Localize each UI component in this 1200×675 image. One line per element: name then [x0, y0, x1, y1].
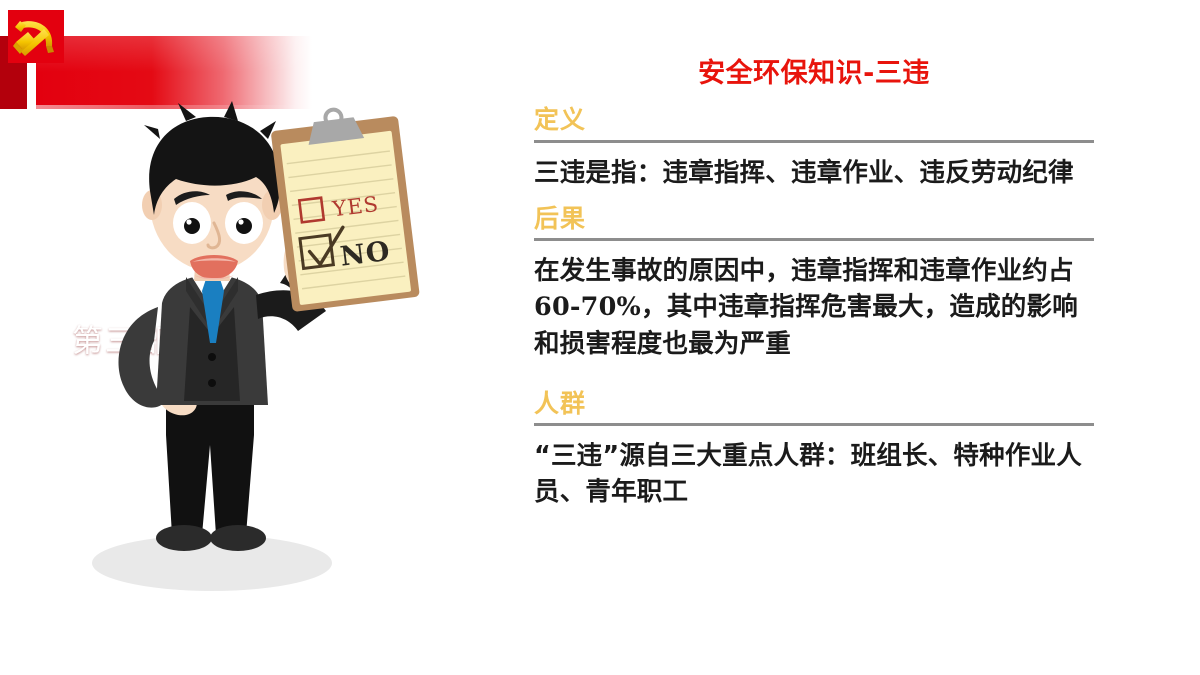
block-consequence-heading: 后果 [534, 203, 1094, 234]
trousers [166, 395, 254, 535]
vest-button-upper [208, 353, 216, 361]
illustration-businessman-clipboard: YES NO [40, 95, 460, 615]
clipboard: YES NO [269, 102, 420, 312]
eye-highlight-right [238, 219, 243, 224]
block-population-rule [534, 423, 1094, 426]
party-emblem-hammer-sickle-icon [8, 10, 64, 63]
shoe-left [156, 525, 212, 551]
hair-spike-1 [144, 125, 160, 139]
checkbox-no-label: NO [339, 236, 393, 273]
block-population: 人群 “三违”源自三大重点人群：班组长、特种作业人员、青年职工 [534, 388, 1094, 511]
hair-spike-2 [178, 103, 196, 121]
block-consequence-rule [534, 238, 1094, 241]
consequence-percentage: 60-70% [534, 292, 641, 322]
block-definition-body: 三违是指：违章指挥、违章作业、违反劳动纪律 [534, 155, 1094, 191]
block-population-heading: 人群 [534, 388, 1094, 419]
consequence-text-part-1: 在发生事故的原因中，违章指挥和违章作业约占 [534, 256, 1074, 286]
vest-button-lower [208, 379, 216, 387]
eye-highlight-left [186, 219, 191, 224]
clipboard-clip-ring [325, 109, 343, 127]
slide-canvas: 第三部分 [0, 0, 1200, 675]
pupil-right [236, 218, 252, 234]
ground-shadow [92, 535, 332, 591]
block-definition-rule [534, 140, 1094, 143]
block-consequence: 后果 在发生事故的原因中，违章指挥和违章作业约占60-70%，其中违章指挥危害最… [534, 203, 1094, 362]
content-column: 安全环保知识-三违 定义 三违是指：违章指挥、违章作业、违反劳动纪律 后果 在发… [534, 58, 1094, 512]
pupil-left [184, 218, 200, 234]
shoe-right [210, 525, 266, 551]
ribbon-gloss [36, 36, 312, 72]
block-population-body: “三违”源自三大重点人群：班组长、特种作业人员、青年职工 [534, 438, 1094, 510]
block-consequence-body: 在发生事故的原因中，违章指挥和违章作业约占60-70%，其中违章指挥危害最大，造… [534, 253, 1094, 362]
page-title: 安全环保知识-三违 [534, 58, 1094, 90]
block-definition: 定义 三违是指：违章指挥、违章作业、违反劳动纪律 [534, 104, 1094, 190]
block-definition-heading: 定义 [534, 104, 1094, 135]
